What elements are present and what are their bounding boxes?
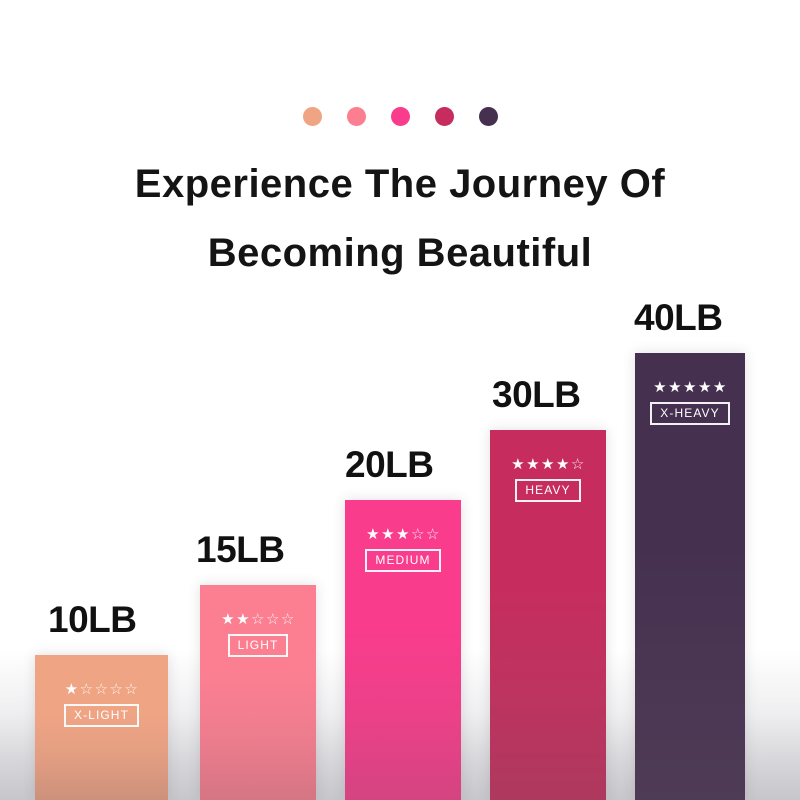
star-filled-icon: ★ (526, 457, 540, 472)
decorative-dot-row (0, 107, 800, 126)
star-empty-icon: ☆ (266, 612, 280, 627)
bar-group-10lb: ★☆☆☆☆X-LIGHT (35, 655, 168, 800)
star-empty-icon: ☆ (251, 612, 265, 627)
star-empty-icon: ☆ (426, 527, 440, 542)
level-tag: HEAVY (515, 479, 580, 502)
star-rating: ★★★★★ (653, 380, 727, 395)
star-rating: ★★★☆☆ (366, 527, 440, 542)
weight-label-40lb: 40LB (634, 299, 722, 336)
star-filled-icon: ★ (366, 527, 380, 542)
bar-group-40lb: ★★★★★X-HEAVY (635, 353, 745, 800)
star-rating: ★★☆☆☆ (221, 612, 295, 627)
bar-badge-15lb: ★★☆☆☆LIGHT (200, 612, 316, 657)
bar-10lb[interactable] (35, 655, 168, 800)
headline-line-1: Experience The Journey Of (0, 150, 800, 219)
bar-bottom-shading (490, 585, 606, 800)
decorative-dot-1 (303, 107, 322, 126)
bar-badge-40lb: ★★★★★X-HEAVY (635, 380, 745, 425)
star-empty-icon: ☆ (411, 527, 425, 542)
decorative-dot-2 (347, 107, 366, 126)
star-filled-icon: ★ (541, 457, 555, 472)
level-tag: MEDIUM (365, 549, 440, 572)
star-filled-icon: ★ (236, 612, 250, 627)
star-rating: ★☆☆☆☆ (65, 682, 139, 697)
star-filled-icon: ★ (511, 457, 525, 472)
bar-group-20lb: ★★★☆☆MEDIUM (345, 500, 461, 800)
decorative-dot-4 (435, 107, 454, 126)
infographic-canvas: Experience The Journey Of Becoming Beaut… (0, 0, 800, 800)
bar-bottom-shading (345, 626, 461, 800)
star-filled-icon: ★ (221, 612, 235, 627)
bar-bottom-shading (200, 675, 316, 800)
decorative-dot-3 (391, 107, 410, 126)
resistance-level-bar-chart: ★☆☆☆☆X-LIGHT10LB★★☆☆☆LIGHT15LB★★★☆☆MEDIU… (0, 280, 800, 800)
star-filled-icon: ★ (698, 380, 712, 395)
star-empty-icon: ☆ (109, 682, 123, 697)
bar-group-30lb: ★★★★☆HEAVY (490, 430, 606, 800)
weight-label-10lb: 10LB (48, 601, 136, 638)
headline-line-2: Becoming Beautiful (0, 219, 800, 288)
level-tag: X-HEAVY (650, 402, 730, 425)
star-rating: ★★★★☆ (511, 457, 585, 472)
star-filled-icon: ★ (668, 380, 682, 395)
star-empty-icon: ☆ (281, 612, 295, 627)
bar-badge-20lb: ★★★☆☆MEDIUM (345, 527, 461, 572)
bar-badge-10lb: ★☆☆☆☆X-LIGHT (35, 682, 168, 727)
page-title: Experience The Journey Of Becoming Beaut… (0, 150, 800, 288)
star-filled-icon: ★ (65, 682, 79, 697)
star-filled-icon: ★ (556, 457, 570, 472)
star-filled-icon: ★ (381, 527, 395, 542)
star-filled-icon: ★ (683, 380, 697, 395)
bar-group-15lb: ★★☆☆☆LIGHT (200, 585, 316, 800)
decorative-dot-5 (479, 107, 498, 126)
level-tag: LIGHT (228, 634, 289, 657)
star-filled-icon: ★ (653, 380, 667, 395)
weight-label-20lb: 20LB (345, 446, 433, 483)
bar-bottom-shading (635, 541, 745, 800)
weight-label-15lb: 15LB (196, 531, 284, 568)
star-empty-icon: ☆ (80, 682, 94, 697)
star-empty-icon: ☆ (95, 682, 109, 697)
level-tag: X-LIGHT (64, 704, 139, 727)
bar-bottom-shading (35, 716, 168, 800)
weight-label-30lb: 30LB (492, 376, 580, 413)
star-empty-icon: ☆ (124, 682, 138, 697)
star-filled-icon: ★ (396, 527, 410, 542)
star-empty-icon: ☆ (571, 457, 585, 472)
bar-badge-30lb: ★★★★☆HEAVY (490, 457, 606, 502)
star-filled-icon: ★ (713, 380, 727, 395)
